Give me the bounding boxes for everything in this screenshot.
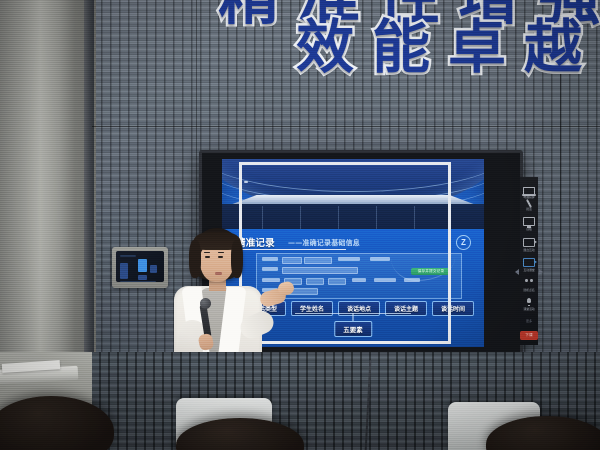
form-label: [374, 278, 396, 282]
connector-arrow: [353, 313, 354, 321]
form-field: [282, 267, 358, 274]
control-ui-tile: [120, 263, 128, 279]
form-field: [328, 278, 346, 285]
hair-side-right: [231, 240, 243, 278]
toolbar-item-screencast[interactable]: 电脑投屏: [520, 187, 538, 199]
form-label: [352, 278, 366, 282]
collapse-left-icon[interactable]: [515, 269, 519, 275]
toolbar-item-visualizer[interactable]: 展台互动: [520, 238, 538, 252]
video-icon: [523, 258, 535, 267]
toolbar-item-interactive-class[interactable]: 互动课堂: [520, 258, 538, 272]
slide-subtitle: ——准确记录基础信息: [288, 238, 360, 248]
bulb-icon: [524, 298, 534, 306]
seat-divider: [414, 206, 415, 230]
stage-canopy: [232, 195, 473, 204]
hair-side-left: [189, 240, 201, 278]
organization-logo-icon: Z: [456, 235, 471, 250]
control-ui-bar: [120, 255, 136, 257]
photo-scene: 精 准 性 增 强 效 能 卓 越 Seewo: [0, 0, 600, 450]
control-ui-tile: [150, 265, 157, 273]
form-submit-button[interactable]: 保存并提交记录: [411, 268, 451, 275]
control-tablet-screen[interactable]: [116, 251, 164, 282]
form-label: [370, 257, 390, 261]
form-label: [338, 257, 360, 261]
summary-chip[interactable]: 五要素: [334, 321, 372, 337]
control-ui-tile: [138, 275, 147, 280]
seat-divider: [262, 206, 263, 230]
panel-seam: [92, 126, 600, 127]
toolbar-item-label: 课堂活动: [523, 307, 534, 311]
end-class-button[interactable]: 下课: [520, 331, 538, 340]
toolbar-item-label: 白板: [526, 227, 532, 231]
toolbar-item-class-activity[interactable]: 课堂活动: [520, 298, 538, 311]
form-field: [306, 278, 324, 285]
whiteboard-side-toolbar[interactable]: 电脑投屏 批注 白板 展台互动 互动课堂: [520, 177, 538, 345]
toolbar-item-whiteboard[interactable]: 白板: [520, 217, 538, 231]
toolbar-item-annotate[interactable]: 批注: [520, 206, 538, 211]
people-icon: [524, 279, 534, 287]
toolbar-more-label[interactable]: 更多: [526, 319, 532, 323]
monitor-icon: [523, 217, 535, 226]
seat-divider: [300, 206, 301, 230]
toolbar-item-label: 随机点名: [523, 288, 534, 292]
collapse-right-icon[interactable]: [539, 269, 543, 275]
toolbar-item-label: 展台互动: [523, 248, 534, 252]
toolbar-item-random-pick[interactable]: 随机点名: [520, 279, 538, 292]
toolbar-item-label: 互动课堂: [523, 268, 534, 272]
form-field: [304, 257, 332, 264]
seat-divider: [338, 206, 339, 230]
mouth: [215, 272, 222, 275]
seat-divider: [376, 206, 377, 230]
laptop-icon: [523, 187, 535, 194]
slide-background-image: [222, 159, 484, 231]
control-ui-bar: [120, 281, 156, 282]
ceiling-light: [244, 181, 248, 183]
element-chip[interactable]: 谈话时间: [432, 301, 474, 316]
control-ui-tile-active: [138, 259, 147, 272]
camera-icon: [523, 238, 535, 247]
